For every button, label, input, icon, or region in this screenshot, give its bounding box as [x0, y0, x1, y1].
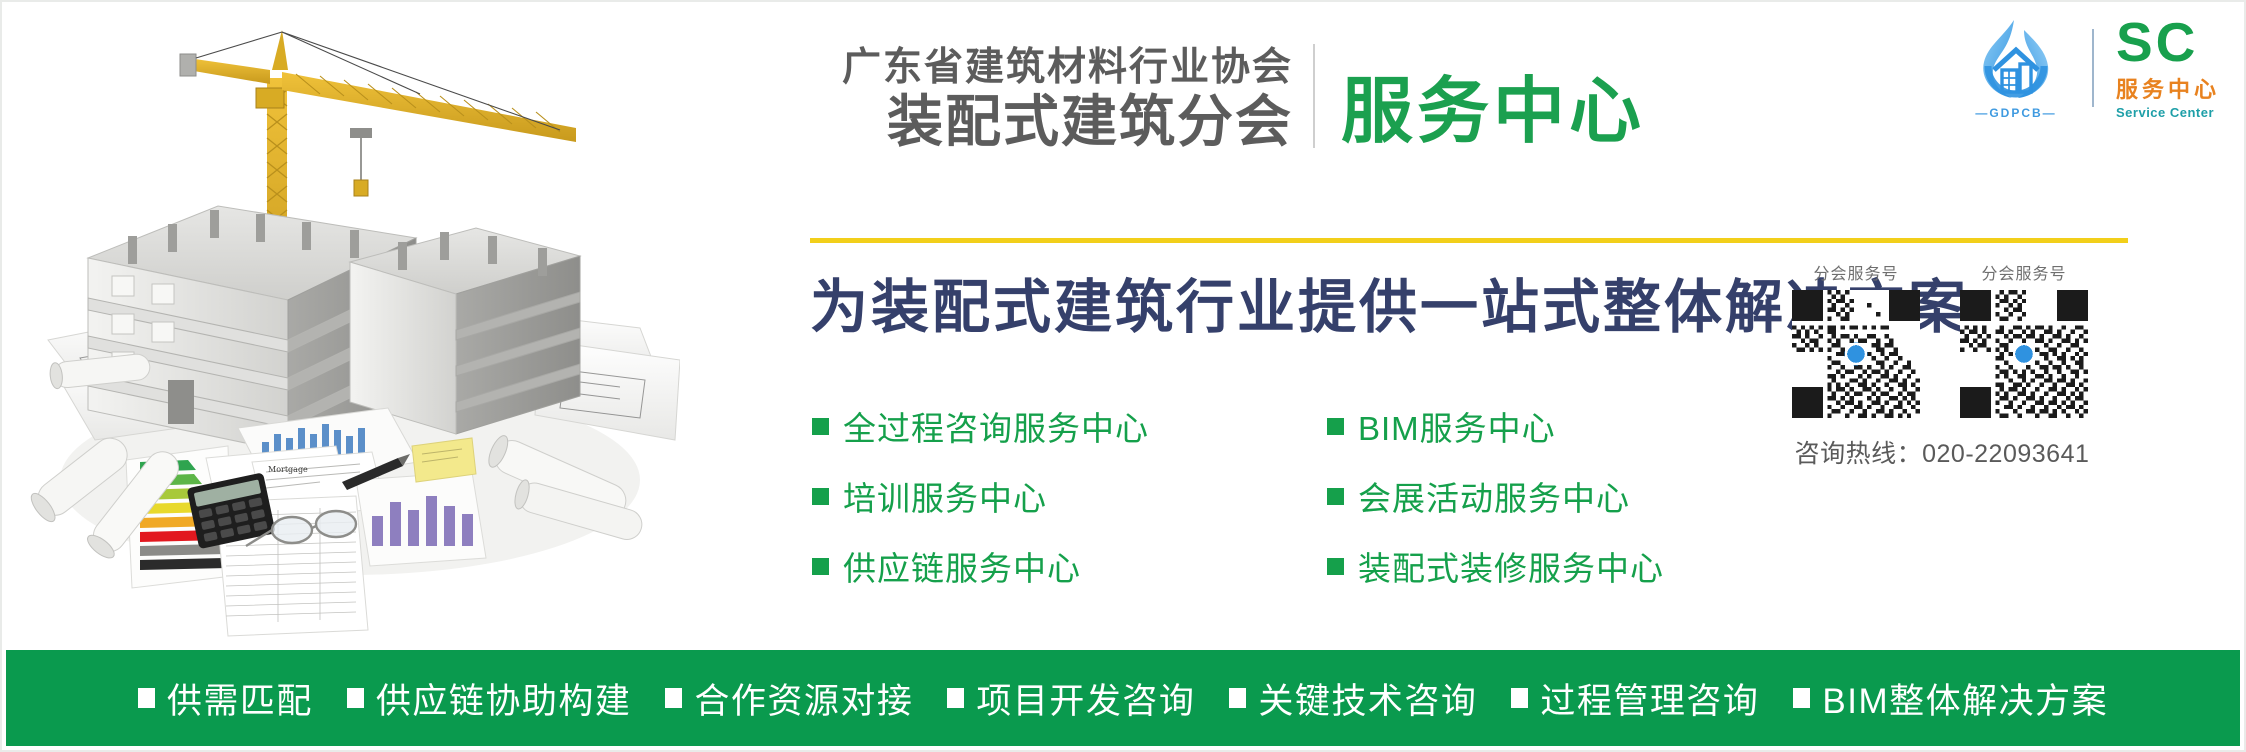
service-item[interactable]: 全过程咨询服务中心: [812, 402, 1227, 450]
qr-code-cell[interactable]: 分会服务号: [1792, 260, 1920, 418]
footer-item[interactable]: BIM整体解决方案: [1793, 673, 2108, 724]
service-item-label: 培训服务中心: [843, 472, 1047, 520]
qr-caption: 分会服务号: [1792, 260, 1920, 284]
flame-house-icon: [1962, 16, 2070, 104]
square-bullet-icon: [1327, 418, 1344, 435]
square-bullet-icon: [138, 688, 155, 708]
square-bullet-icon: [812, 418, 829, 435]
footer-item[interactable]: 过程管理咨询: [1511, 673, 1759, 724]
footer-item-label: 过程管理咨询: [1540, 673, 1759, 724]
gdpcb-caption: —GDPCB—: [1962, 106, 2070, 120]
promo-banner: Mortgage: [0, 0, 2246, 752]
association-name-line2: 装配式建筑分会: [887, 91, 1293, 154]
service-center-title: 服务中心: [1341, 76, 1645, 154]
association-names: 广东省建筑材料行业协会 装配式建筑分会: [842, 45, 1313, 154]
sc-abbreviation: SC: [2116, 16, 2198, 68]
footer-item-label: 供需匹配: [167, 673, 313, 724]
footer-item[interactable]: 供应链协助构建: [347, 673, 632, 724]
qr-code-row: 分会服务号: [1792, 260, 2122, 418]
sc-english-label: Service Center: [2116, 105, 2214, 120]
service-item-label: 供应链服务中心: [843, 542, 1081, 590]
qr-code-image[interactable]: [1960, 290, 2088, 418]
logo-divider: [2092, 29, 2094, 107]
sticky-note: [412, 438, 476, 482]
banner-content: 广东省建筑材料行业协会 装配式建筑分会 服务中心 为装配式建筑行业提供一站式整体…: [692, 2, 2246, 650]
qr-code-area: 分会服务号: [1792, 260, 2122, 470]
logo-text: SC 服务中心 Service Center: [2116, 16, 2220, 119]
title-block: 广东省建筑材料行业协会 装配式建筑分会 服务中心: [842, 44, 1645, 154]
footer-item-label: 项目开发咨询: [976, 673, 1195, 724]
service-item-label: 装配式装修服务中心: [1358, 542, 1664, 590]
square-bullet-icon: [347, 688, 364, 708]
square-bullet-icon: [947, 688, 964, 708]
square-bullet-icon: [1327, 488, 1344, 505]
qr-caption: 分会服务号: [1960, 260, 2088, 284]
footer-item[interactable]: 关键技术咨询: [1229, 673, 1477, 724]
svg-text:Mortgage: Mortgage: [268, 465, 308, 474]
title-divider: [1313, 44, 1315, 148]
qr-code-image[interactable]: [1792, 290, 1920, 418]
construction-hero-image: Mortgage: [20, 10, 680, 640]
qr-code-cell[interactable]: 分会服务号: [1960, 260, 2088, 418]
sc-chinese-label: 服务中心: [2116, 72, 2220, 104]
gdpcb-logo-icon: —GDPCB—: [1962, 16, 2070, 120]
footer-item[interactable]: 项目开发咨询: [947, 673, 1195, 724]
service-item[interactable]: 培训服务中心: [812, 472, 1227, 520]
service-item-label: BIM服务中心: [1358, 402, 1556, 450]
square-bullet-icon: [1229, 688, 1246, 708]
service-item[interactable]: BIM服务中心: [1327, 402, 1664, 450]
service-item-label: 会展活动服务中心: [1358, 472, 1630, 520]
logo-block[interactable]: —GDPCB— SC 服务中心 Service Center: [1962, 16, 2220, 120]
footer-item-label: BIM整体解决方案: [1822, 673, 2108, 724]
square-bullet-icon: [1327, 558, 1344, 575]
association-name-line1: 广东省建筑材料行业协会: [842, 45, 1293, 91]
service-list: 全过程咨询服务中心 BIM服务中心 培训服务中心 会展活动服务中心 供应链服务中…: [812, 402, 1664, 590]
service-item-label: 全过程咨询服务中心: [843, 402, 1149, 450]
square-bullet-icon: [1793, 688, 1810, 708]
construction-scene-illustration: Mortgage: [20, 10, 680, 640]
square-bullet-icon: [665, 688, 682, 708]
footer-item-label: 关键技术咨询: [1258, 673, 1477, 724]
service-item[interactable]: 装配式装修服务中心: [1327, 542, 1664, 590]
footer-item-label: 合作资源对接: [694, 673, 913, 724]
square-bullet-icon: [1511, 688, 1528, 708]
square-bullet-icon: [812, 558, 829, 575]
footer-bar: 供需匹配 供应链协助构建 合作资源对接 项目开发咨询 关键技术咨询 过程管理咨询: [6, 650, 2240, 746]
footer-item[interactable]: 合作资源对接: [665, 673, 913, 724]
service-item[interactable]: 会展活动服务中心: [1327, 472, 1664, 520]
footer-items: 供需匹配 供应链协助构建 合作资源对接 项目开发咨询 关键技术咨询 过程管理咨询: [138, 673, 2108, 724]
yellow-divider-rule: [810, 238, 2128, 243]
service-item[interactable]: 供应链服务中心: [812, 542, 1227, 590]
hotline-text: 咨询热线：020-22093641: [1792, 434, 2092, 470]
footer-item-label: 供应链协助构建: [376, 673, 632, 724]
footer-item[interactable]: 供需匹配: [138, 673, 313, 724]
square-bullet-icon: [812, 488, 829, 505]
